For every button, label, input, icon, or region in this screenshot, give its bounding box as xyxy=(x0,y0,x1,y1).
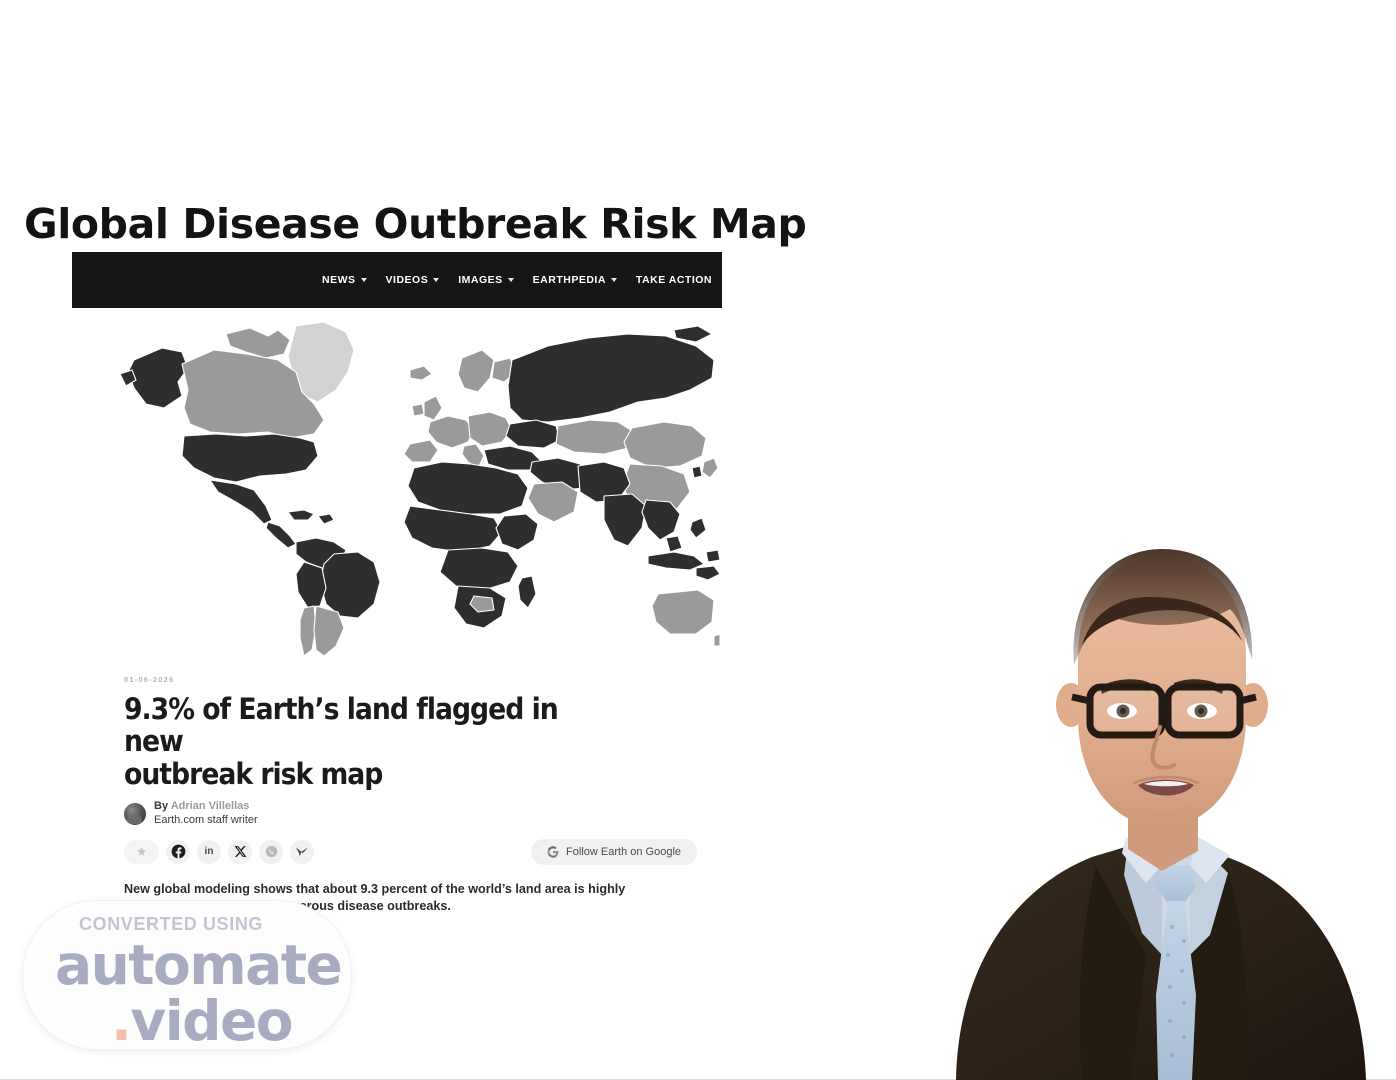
article-headline: 9.3% of Earth’s land flagged in new outb… xyxy=(124,693,584,790)
byline: By Adrian Villellas Earth.com staff writ… xyxy=(124,800,722,828)
chevron-down-icon xyxy=(611,278,617,282)
watermark-dot: . xyxy=(111,989,130,1053)
presenter-illustration xyxy=(896,535,1396,1080)
chevron-down-icon xyxy=(433,278,439,282)
nav-item-videos-label: VIDEOS xyxy=(386,274,429,286)
article-headline-line2: outbreak risk map xyxy=(124,757,382,791)
google-g-icon xyxy=(547,846,559,858)
email-share-icon[interactable] xyxy=(290,840,314,864)
article-body: 01-06-2026 9.3% of Earth’s land flagged … xyxy=(72,661,722,924)
follow-on-google-label: Follow Earth on Google xyxy=(566,846,681,858)
x-twitter-icon[interactable] xyxy=(228,840,252,864)
nav-item-images-label: IMAGES xyxy=(458,274,502,286)
author-role: Earth.com staff writer xyxy=(154,814,258,828)
nav-item-news[interactable]: NEWS xyxy=(322,274,367,286)
byline-author-line: By Adrian Villellas xyxy=(154,800,258,814)
whatsapp-icon[interactable] xyxy=(259,840,283,864)
page-title: Global Disease Outbreak Risk Map xyxy=(24,200,806,248)
watermark-superline: CONVERTED USING xyxy=(79,914,263,935)
nav-item-earthpedia-label: EARTHPEDIA xyxy=(533,274,606,286)
facebook-icon[interactable] xyxy=(166,840,190,864)
nav-item-news-label: NEWS xyxy=(322,274,356,286)
watermark-suffix: .video xyxy=(111,989,292,1053)
watermark-suffix-text: video xyxy=(130,989,292,1053)
favorite-star-icon[interactable] xyxy=(124,840,159,864)
share-row: in Follow Earth on Google xyxy=(124,839,697,865)
watermark-brand: automate xyxy=(55,933,341,997)
byline-prefix: By xyxy=(154,800,171,812)
article-date: 01-06-2026 xyxy=(124,675,722,684)
site-nav-bar: NEWS VIDEOS IMAGES EARTHPEDIA TAKE ACTIO… xyxy=(72,252,722,308)
nav-item-videos[interactable]: VIDEOS xyxy=(386,274,440,286)
nav-item-earthpedia[interactable]: EARTHPEDIA xyxy=(533,274,617,286)
follow-on-google-button[interactable]: Follow Earth on Google xyxy=(531,839,697,865)
world-risk-map xyxy=(72,316,722,661)
chevron-down-icon xyxy=(361,278,367,282)
nav-items: NEWS VIDEOS IMAGES EARTHPEDIA TAKE ACTIO… xyxy=(322,274,712,286)
linkedin-icon[interactable]: in xyxy=(197,840,221,864)
world-map-svg xyxy=(118,316,722,661)
nav-item-images[interactable]: IMAGES xyxy=(458,274,513,286)
chevron-down-icon xyxy=(508,278,514,282)
slide-canvas: Global Disease Outbreak Risk Map NEWS VI… xyxy=(0,0,1396,1080)
automate-video-watermark: CONVERTED USING automate .video xyxy=(22,900,352,1050)
author-avatar xyxy=(124,803,146,825)
article-headline-line1: 9.3% of Earth’s land flagged in new xyxy=(124,692,558,758)
byline-text: By Adrian Villellas Earth.com staff writ… xyxy=(154,800,258,828)
nav-item-take-action-label: TAKE ACTION xyxy=(636,274,712,286)
share-icons: in xyxy=(124,840,314,864)
presenter-avatar xyxy=(896,535,1396,1080)
author-name[interactable]: Adrian Villellas xyxy=(171,800,250,812)
nav-item-take-action[interactable]: TAKE ACTION xyxy=(636,274,712,286)
article-screenshot-card: NEWS VIDEOS IMAGES EARTHPEDIA TAKE ACTIO… xyxy=(72,252,722,924)
